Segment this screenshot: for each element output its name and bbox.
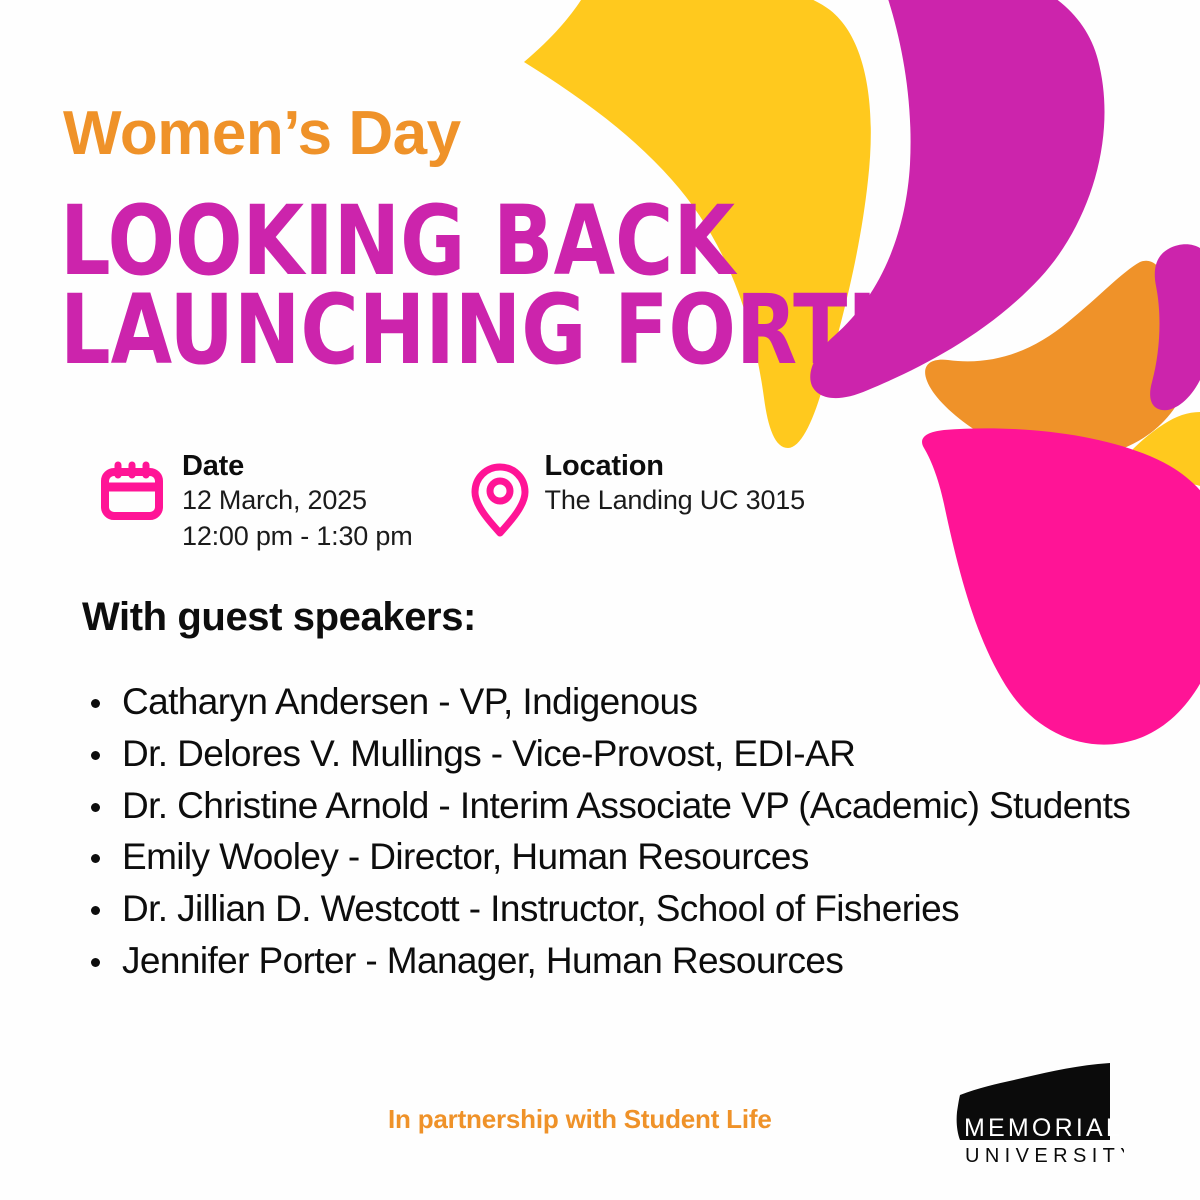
event-details: Date 12 March, 2025 12:00 pm - 1:30 pm L…: [96, 447, 805, 554]
headline-line-1: LOOKING BACK: [60, 197, 914, 286]
date-label: Date: [182, 449, 413, 483]
logo-line-2-text: UNIVERSITY: [965, 1145, 1124, 1166]
list-item: Dr. Delores V. Mullings - Vice-Provost, …: [78, 728, 1158, 780]
speakers-list: Catharyn Andersen - VP, Indigenous Dr. D…: [78, 676, 1158, 987]
event-location-block: Location The Landing UC 3015: [469, 447, 805, 533]
poster-canvas: Women’s Day LOOKING BACK LAUNCHING FORTH: [0, 0, 1200, 1200]
location-label: Location: [545, 449, 805, 483]
map-pin-icon: [469, 447, 531, 533]
list-item: Emily Wooley - Director, Human Resources: [78, 831, 1158, 883]
kicker-title: Women’s Day: [63, 103, 461, 165]
list-item: Catharyn Andersen - VP, Indigenous: [78, 676, 1158, 728]
memorial-university-logo: MEMORIAL UNIVERSITY: [948, 1062, 1124, 1166]
list-item: Dr. Jillian D. Westcott - Instructor, Sc…: [78, 883, 1158, 935]
event-date-block: Date 12 March, 2025 12:00 pm - 1:30 pm: [96, 447, 413, 554]
time-value: 12:00 pm - 1:30 pm: [182, 519, 413, 555]
partnership-text: In partnership with Student Life: [388, 1106, 772, 1132]
logo-line-1-text: MEMORIAL: [964, 1114, 1123, 1142]
date-value: 12 March, 2025: [182, 483, 413, 519]
calendar-icon: [96, 447, 168, 533]
location-value: The Landing UC 3015: [545, 483, 805, 519]
headline-line-2: LAUNCHING FORTH: [60, 286, 914, 375]
list-item: Jennifer Porter - Manager, Human Resourc…: [78, 935, 1158, 987]
page-title: LOOKING BACK LAUNCHING FORTH: [60, 197, 914, 376]
speakers-heading: With guest speakers:: [82, 597, 476, 637]
list-item: Dr. Christine Arnold - Interim Associate…: [78, 780, 1158, 832]
